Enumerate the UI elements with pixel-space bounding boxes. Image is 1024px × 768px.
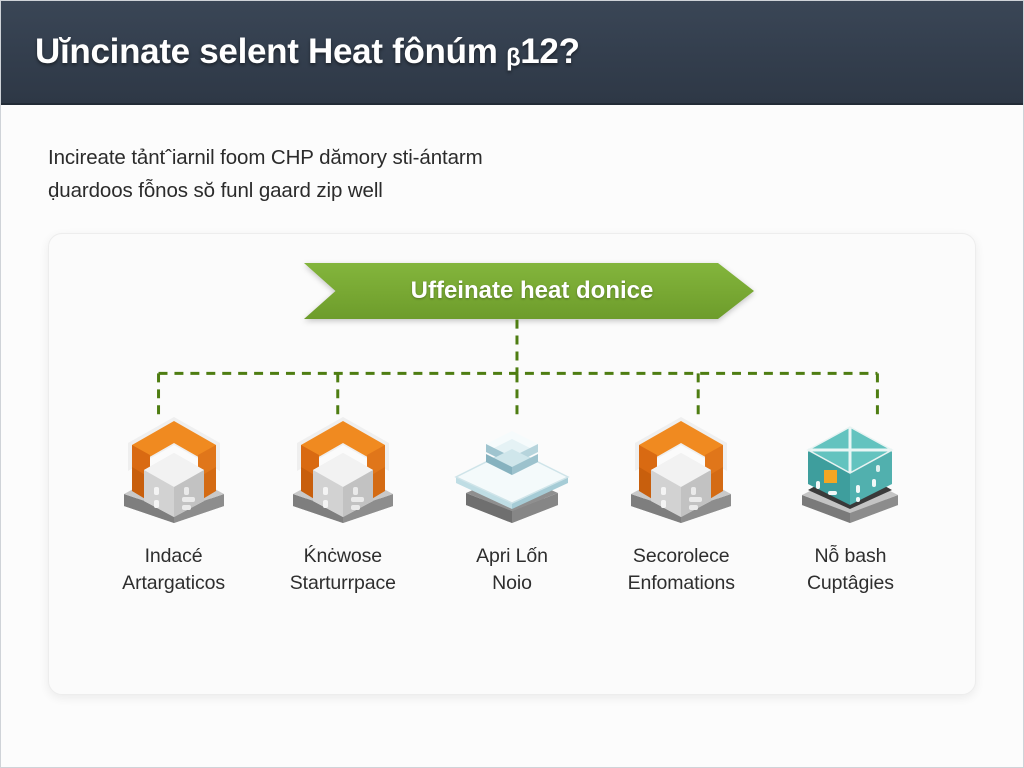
diagram-card: Uffeinate heat donice	[48, 233, 976, 695]
node-label: Nỗ bash Cuptâgies	[807, 543, 894, 597]
app-window: Uĭncinate selent Heat fônúm ᵦ12? Incirea…	[0, 0, 1024, 768]
subtitle-line-2: ḍuardoos fỗnos sŏ funl gaard zip well	[48, 174, 688, 207]
node-label: Indacé Artargaticos	[122, 543, 225, 597]
node-label: Secorolece Enfomations	[628, 543, 735, 597]
building-block-orange-icon	[112, 409, 236, 527]
banner-shape: Uffeinate heat donice	[304, 263, 754, 319]
building-block-orange-icon	[619, 409, 743, 527]
heat-source-banner[interactable]: Uffeinate heat donice	[304, 263, 754, 319]
layered-plate-blue-icon	[450, 409, 574, 527]
building-block-orange-icon	[281, 409, 405, 527]
subtitle: Incireate tảntˆiarnil foom CHP dămory st…	[48, 141, 688, 207]
page-title: Uĭncinate selent Heat fônúm ᵦ12?	[35, 32, 580, 72]
node-row: Indacé Artargaticos	[49, 409, 975, 597]
content-area: Incireate tảntˆiarnil foom CHP dămory st…	[1, 105, 1023, 767]
node-item[interactable]: Nỗ bash Cuptâgies	[766, 409, 935, 597]
subtitle-line-1: Incireate tảntˆiarnil foom CHP dămory st…	[48, 141, 688, 174]
node-label: Ḱnċwose Starturrpace	[290, 543, 396, 597]
node-label: Apri Lốn Noio	[476, 543, 548, 597]
node-item[interactable]: Indacé Artargaticos	[89, 409, 258, 597]
grid-cube-teal-icon	[788, 409, 912, 527]
node-item[interactable]: Ḱnċwose Starturrpace	[258, 409, 427, 597]
node-item[interactable]: Apri Lốn Noio	[427, 409, 596, 597]
banner-label: Uffeinate heat donice	[405, 277, 654, 305]
node-item[interactable]: Secorolece Enfomations	[597, 409, 766, 597]
header-bar: Uĭncinate selent Heat fônúm ᵦ12?	[1, 1, 1023, 105]
